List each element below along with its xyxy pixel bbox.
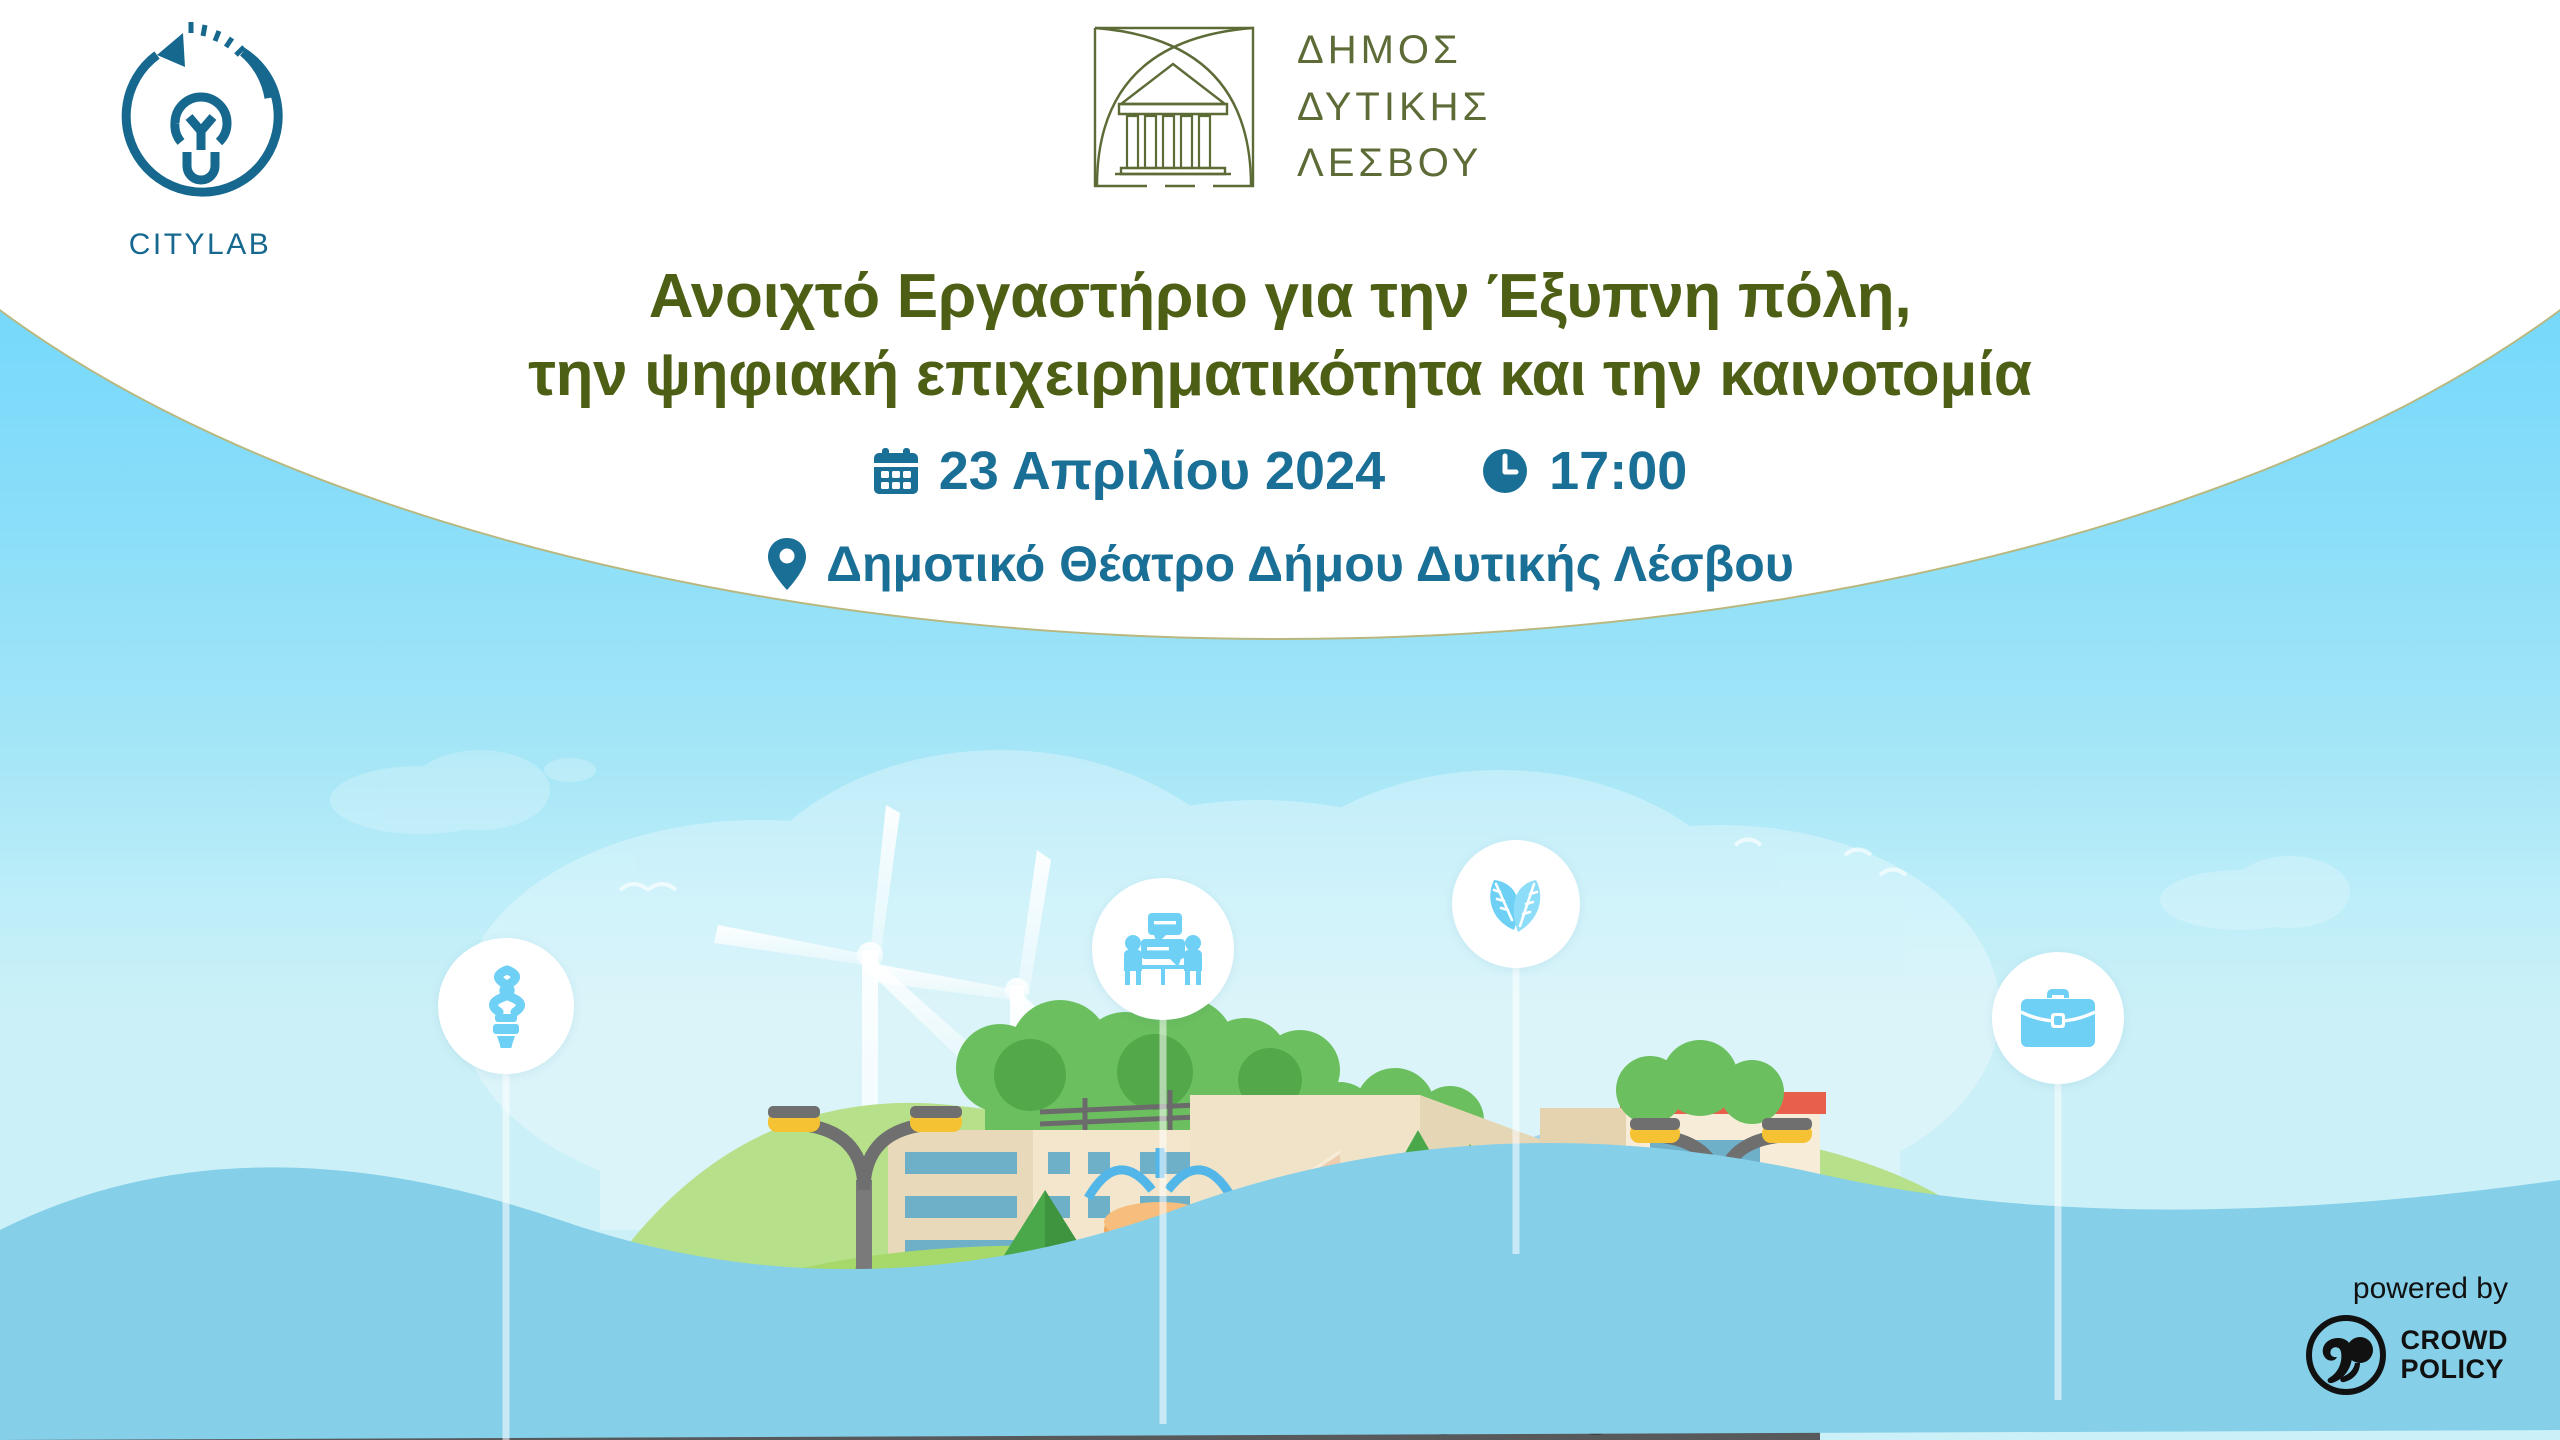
map-pin-icon: [766, 536, 808, 592]
event-venue-text: Δημοτικό Θέατρο Δήμου Δυτικής Λέσβου: [826, 535, 1794, 593]
event-venue: Δημοτικό Θέατρο Δήμου Δυτικής Λέσβου: [0, 535, 2560, 593]
event-poster: CITYLAB ΔΗΜΟΣ ΔΥΤΙΚΗΣ: [0, 0, 2560, 1440]
crowd-policy-logo[interactable]: CROWD POLICY: [2305, 1314, 2508, 1396]
municipality-line-2: ΔΥΤΙΚΗΣ: [1297, 79, 1491, 136]
municipality-name: ΔΗΜΟΣ ΔΥΤΙΚΗΣ ΛΕΣΒΟΥ: [1297, 22, 1491, 192]
citylab-logo: CITYLAB: [70, 20, 330, 262]
crowd-policy-logo-icon: [2305, 1314, 2387, 1396]
cfl-bulb-icon: [469, 964, 543, 1048]
powered-by-block: powered by CROWD POLICY: [2305, 1272, 2508, 1396]
clock-icon: [1481, 447, 1529, 495]
event-time-text: 17:00: [1549, 440, 1687, 502]
event-headline: Ανοιχτό Εργαστήριο για την Έξυπνη πόλη, …: [0, 258, 2560, 414]
municipality-logo: ΔΗΜΟΣ ΔΥΤΙΚΗΣ ΛΕΣΒΟΥ: [1085, 18, 1491, 196]
event-date-text: 23 Απριλίου 2024: [939, 440, 1385, 502]
pin-green-environment[interactable]: [1452, 840, 1580, 968]
pin-stem: [1513, 954, 1520, 1254]
powered-by-label: powered by: [2305, 1272, 2508, 1306]
event-date: 23 Απριλίου 2024: [873, 440, 1385, 502]
pin-bubble: [1452, 840, 1580, 968]
event-time: 17:00: [1481, 440, 1687, 502]
pin-bubble: [1992, 952, 2124, 1084]
pin-business-entrepreneurship[interactable]: [1992, 952, 2124, 1084]
pin-stem: [2055, 1070, 2062, 1400]
pin-energy-saving-bulb[interactable]: [438, 938, 574, 1074]
two-leaves-icon: [1480, 868, 1552, 940]
partner-line-1: CROWD: [2401, 1326, 2508, 1355]
municipality-line-3: ΛΕΣΒΟΥ: [1297, 135, 1491, 192]
calendar-icon: [873, 446, 919, 496]
pin-stem: [503, 1058, 510, 1440]
pin-collaboration-meeting[interactable]: [1092, 878, 1234, 1020]
briefcase-icon: [2019, 986, 2097, 1050]
partner-line-2: POLICY: [2401, 1355, 2508, 1384]
headline-line-1: Ανοιχτό Εργαστήριο για την Έξυπνη πόλη,: [0, 258, 2560, 336]
crowd-policy-name: CROWD POLICY: [2401, 1326, 2508, 1383]
citylab-label: CITYLAB: [70, 228, 330, 262]
pin-bubble: [438, 938, 574, 1074]
people-meeting-icon: [1120, 909, 1206, 989]
headline-line-2: την ψηφιακή επιχειρηματικότητα και την κ…: [0, 336, 2560, 414]
bottom-wave: [0, 1110, 2560, 1440]
classical-temple-emblem-icon: [1085, 18, 1263, 196]
event-meta-row: 23 Απριλίου 2024 17:00: [0, 440, 2560, 502]
pin-bubble: [1092, 878, 1234, 1020]
municipality-line-1: ΔΗΜΟΣ: [1297, 22, 1491, 79]
pin-stem: [1160, 1004, 1167, 1424]
circular-arrow-lightbulb-icon: [95, 20, 305, 220]
